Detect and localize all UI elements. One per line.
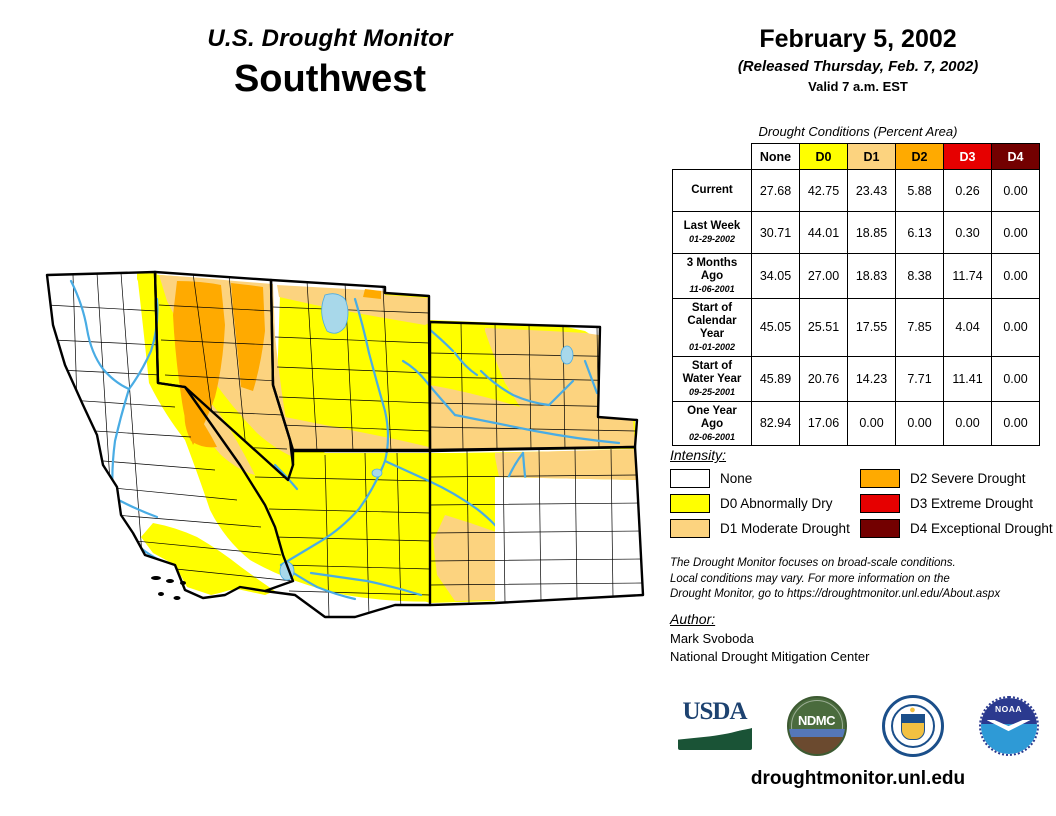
disclaimer-note: The Drought Monitor focuses on broad-sca… — [670, 556, 1056, 603]
drought-conditions-table: None D0 D1 D2 D3 D4 Current27.6842.7523.… — [672, 143, 1040, 446]
ndmc-logo-mountain — [789, 737, 845, 754]
noaa-logo: NOAA — [979, 696, 1039, 756]
cell-d3: 0.26 — [944, 170, 992, 212]
usda-logo-text: USDA — [678, 699, 752, 724]
row-label: Last Week01-29-2002 — [673, 212, 752, 254]
legend-swatch-d3 — [860, 494, 900, 513]
map-d3-layer — [609, 571, 643, 597]
cell-d1: 23.43 — [848, 170, 896, 212]
cell-d1: 0.00 — [848, 401, 896, 446]
cell-d3: 0.00 — [944, 401, 992, 446]
table-header-row: None D0 D1 D2 D3 D4 — [673, 144, 1040, 170]
table-row: Start ofWater Year09-25-200145.8920.7614… — [673, 356, 1040, 401]
legend-label-d2: D2 Severe Drought — [910, 471, 1026, 486]
legend-item-d4: D4 Exceptional Drought — [860, 519, 1053, 537]
cell-d4: 0.00 — [992, 212, 1040, 254]
row-label: Current — [673, 170, 752, 212]
cell-d3: 11.41 — [944, 356, 992, 401]
author-name: Mark Svoboda — [670, 630, 1056, 648]
legend-label-none: None — [720, 471, 752, 486]
cell-d0: 17.06 — [800, 401, 848, 446]
column-header-none: None — [752, 144, 800, 170]
table-row: Start ofCalendar Year01-01-200245.0525.5… — [673, 298, 1040, 356]
row-label: Start ofWater Year09-25-2001 — [673, 356, 752, 401]
cell-none: 34.05 — [752, 254, 800, 299]
table-header: None D0 D1 D2 D3 D4 — [673, 144, 1040, 170]
table-row: 3 Months Ago11-06-200134.0527.0018.838.3… — [673, 254, 1040, 299]
cell-none: 45.05 — [752, 298, 800, 356]
cell-d1: 14.23 — [848, 356, 896, 401]
disclaimer-line-1: The Drought Monitor focuses on broad-sca… — [670, 556, 1056, 572]
map-date: February 5, 2002 — [660, 26, 1056, 54]
cell-d1: 17.55 — [848, 298, 896, 356]
site-url: droughtmonitor.unl.edu — [660, 768, 1056, 790]
legend: Intensity: None D0 Abnormally Dry D1 Mod… — [670, 447, 1056, 537]
author-block: Author: Mark Svoboda National Drought Mi… — [670, 611, 1056, 665]
cell-d2: 7.85 — [896, 298, 944, 356]
noaa-logo-text: NOAA — [981, 704, 1037, 714]
legend-item-d2: D2 Severe Drought — [860, 469, 1053, 487]
cell-d3: 0.30 — [944, 212, 992, 254]
row-label-date: 01-01-2002 — [675, 342, 749, 352]
disclaimer-line-2: Local conditions may vary. For more info… — [670, 572, 1056, 588]
cell-d2: 6.13 — [896, 212, 944, 254]
legend-label-d1: D1 Moderate Drought — [720, 521, 850, 536]
row-label-date: 09-25-2001 — [675, 387, 749, 397]
row-label-date: 01-29-2002 — [675, 234, 749, 244]
author-organization: National Drought Mitigation Center — [670, 648, 1056, 666]
cell-none: 82.94 — [752, 401, 800, 446]
cell-d4: 0.00 — [992, 254, 1040, 299]
right-header: February 5, 2002 (Released Thursday, Feb… — [660, 26, 1056, 94]
doc-seal-shield — [901, 714, 925, 740]
cell-d0: 27.00 — [800, 254, 848, 299]
legend-column-right: D2 Severe Drought D3 Extreme Drought D4 … — [860, 469, 1053, 537]
column-header-d0: D0 — [800, 144, 848, 170]
cell-d1: 18.85 — [848, 212, 896, 254]
legend-label-d0: D0 Abnormally Dry — [720, 496, 833, 511]
column-header-d4: D4 — [992, 144, 1040, 170]
ndmc-logo-text: NDMC — [789, 713, 845, 728]
row-label-date: 02-06-2001 — [675, 432, 749, 442]
ndmc-logo: NDMC — [787, 696, 847, 756]
row-label: 3 Months Ago11-06-2001 — [673, 254, 752, 299]
column-header-d3: D3 — [944, 144, 992, 170]
legend-item-none: None — [670, 469, 860, 487]
row-label: One Year Ago02-06-2001 — [673, 401, 752, 446]
cell-d2: 7.71 — [896, 356, 944, 401]
legend-item-d1: D1 Moderate Drought — [670, 519, 860, 537]
cell-d0: 42.75 — [800, 170, 848, 212]
row-label: Start ofCalendar Year01-01-2002 — [673, 298, 752, 356]
cell-d1: 18.83 — [848, 254, 896, 299]
release-date: (Released Thursday, Feb. 7, 2002) — [660, 58, 1056, 75]
cell-d0: 44.01 — [800, 212, 848, 254]
page-title: U.S. Drought Monitor — [0, 26, 660, 52]
legend-swatch-d2 — [860, 469, 900, 488]
usda-logo: USDA — [678, 699, 752, 753]
legend-label-d4: D4 Exceptional Drought — [910, 521, 1053, 536]
logo-row: USDA NDMC ● NOAA — [660, 695, 1056, 757]
region-title: Southwest — [0, 58, 660, 102]
drought-map[interactable] — [25, 265, 650, 660]
cell-d2: 8.38 — [896, 254, 944, 299]
column-header-d2: D2 — [896, 144, 944, 170]
table-row: Last Week01-29-200230.7144.0118.856.130.… — [673, 212, 1040, 254]
legend-title: Intensity: — [670, 447, 1056, 463]
cell-d4: 0.00 — [992, 356, 1040, 401]
cell-none: 27.68 — [752, 170, 800, 212]
legend-swatch-d0 — [670, 494, 710, 513]
cell-d2: 5.88 — [896, 170, 944, 212]
author-title: Author: — [670, 611, 1056, 627]
legend-grid: None D0 Abnormally Dry D1 Moderate Droug… — [670, 469, 1056, 537]
legend-column-left: None D0 Abnormally Dry D1 Moderate Droug… — [670, 469, 860, 537]
table-body: Current27.6842.7523.435.880.260.00Last W… — [673, 170, 1040, 446]
legend-swatch-d1 — [670, 519, 710, 538]
cell-none: 30.71 — [752, 212, 800, 254]
legend-item-d3: D3 Extreme Drought — [860, 494, 1053, 512]
usda-logo-field — [678, 726, 752, 750]
cell-d0: 20.76 — [800, 356, 848, 401]
table-caption: Drought Conditions (Percent Area) — [660, 124, 1056, 139]
cell-d3: 4.04 — [944, 298, 992, 356]
row-label-date: 11-06-2001 — [675, 284, 749, 294]
cell-d3: 11.74 — [944, 254, 992, 299]
title-block: U.S. Drought Monitor Southwest — [0, 26, 660, 102]
disclaimer-line-3: Drought Monitor, go to https://droughtmo… — [670, 587, 1056, 603]
table-row: Current27.6842.7523.435.880.260.00 — [673, 170, 1040, 212]
cell-d4: 0.00 — [992, 401, 1040, 446]
table-row: One Year Ago02-06-200182.9417.060.000.00… — [673, 401, 1040, 446]
valid-time: Valid 7 a.m. EST — [660, 79, 1056, 94]
table-corner-cell — [673, 144, 752, 170]
legend-swatch-none — [670, 469, 710, 488]
cell-d4: 0.00 — [992, 170, 1040, 212]
doc-seal-logo: ● — [882, 695, 944, 757]
cell-d2: 0.00 — [896, 401, 944, 446]
cell-none: 45.89 — [752, 356, 800, 401]
cell-d4: 0.00 — [992, 298, 1040, 356]
column-header-d1: D1 — [848, 144, 896, 170]
legend-swatch-d4 — [860, 519, 900, 538]
legend-item-d0: D0 Abnormally Dry — [670, 494, 860, 512]
legend-label-d3: D3 Extreme Drought — [910, 496, 1033, 511]
cell-d0: 25.51 — [800, 298, 848, 356]
